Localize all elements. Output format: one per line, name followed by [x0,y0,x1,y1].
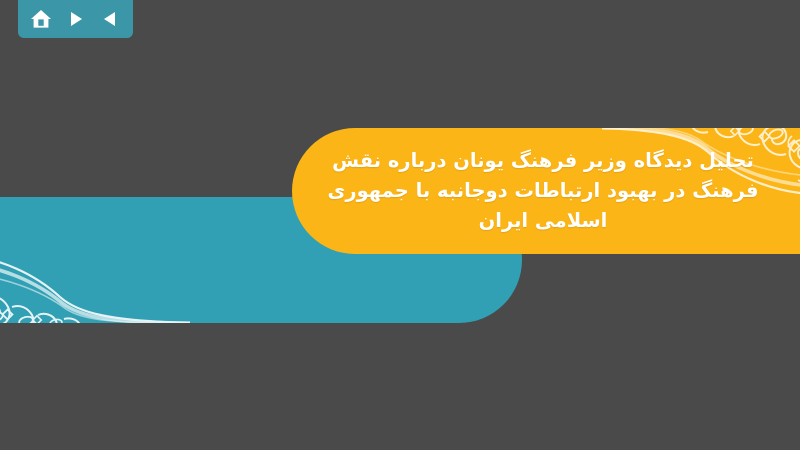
navigation-bar [18,0,133,38]
slide-canvas: تحلیل دیدگاه وزیر فرهنگ یونان درباره نقش… [0,0,800,450]
title-line-2: فرهنگ در بهبود ارتباطات دوجانبه با جمهور… [327,176,758,206]
home-icon [30,9,52,29]
page-title: تحلیل دیدگاه وزیر فرهنگ یونان درباره نقش… [292,128,800,254]
triangle-left-icon [101,10,119,28]
next-button[interactable] [62,6,90,32]
title-line-3: اسلامی ایران [479,206,608,236]
title-line-1: تحلیل دیدگاه وزیر فرهنگ یونان درباره نقش [332,146,754,176]
home-button[interactable] [27,6,55,32]
triangle-right-icon [67,10,85,28]
arabesque-ornament [0,197,190,323]
previous-button[interactable] [96,6,124,32]
